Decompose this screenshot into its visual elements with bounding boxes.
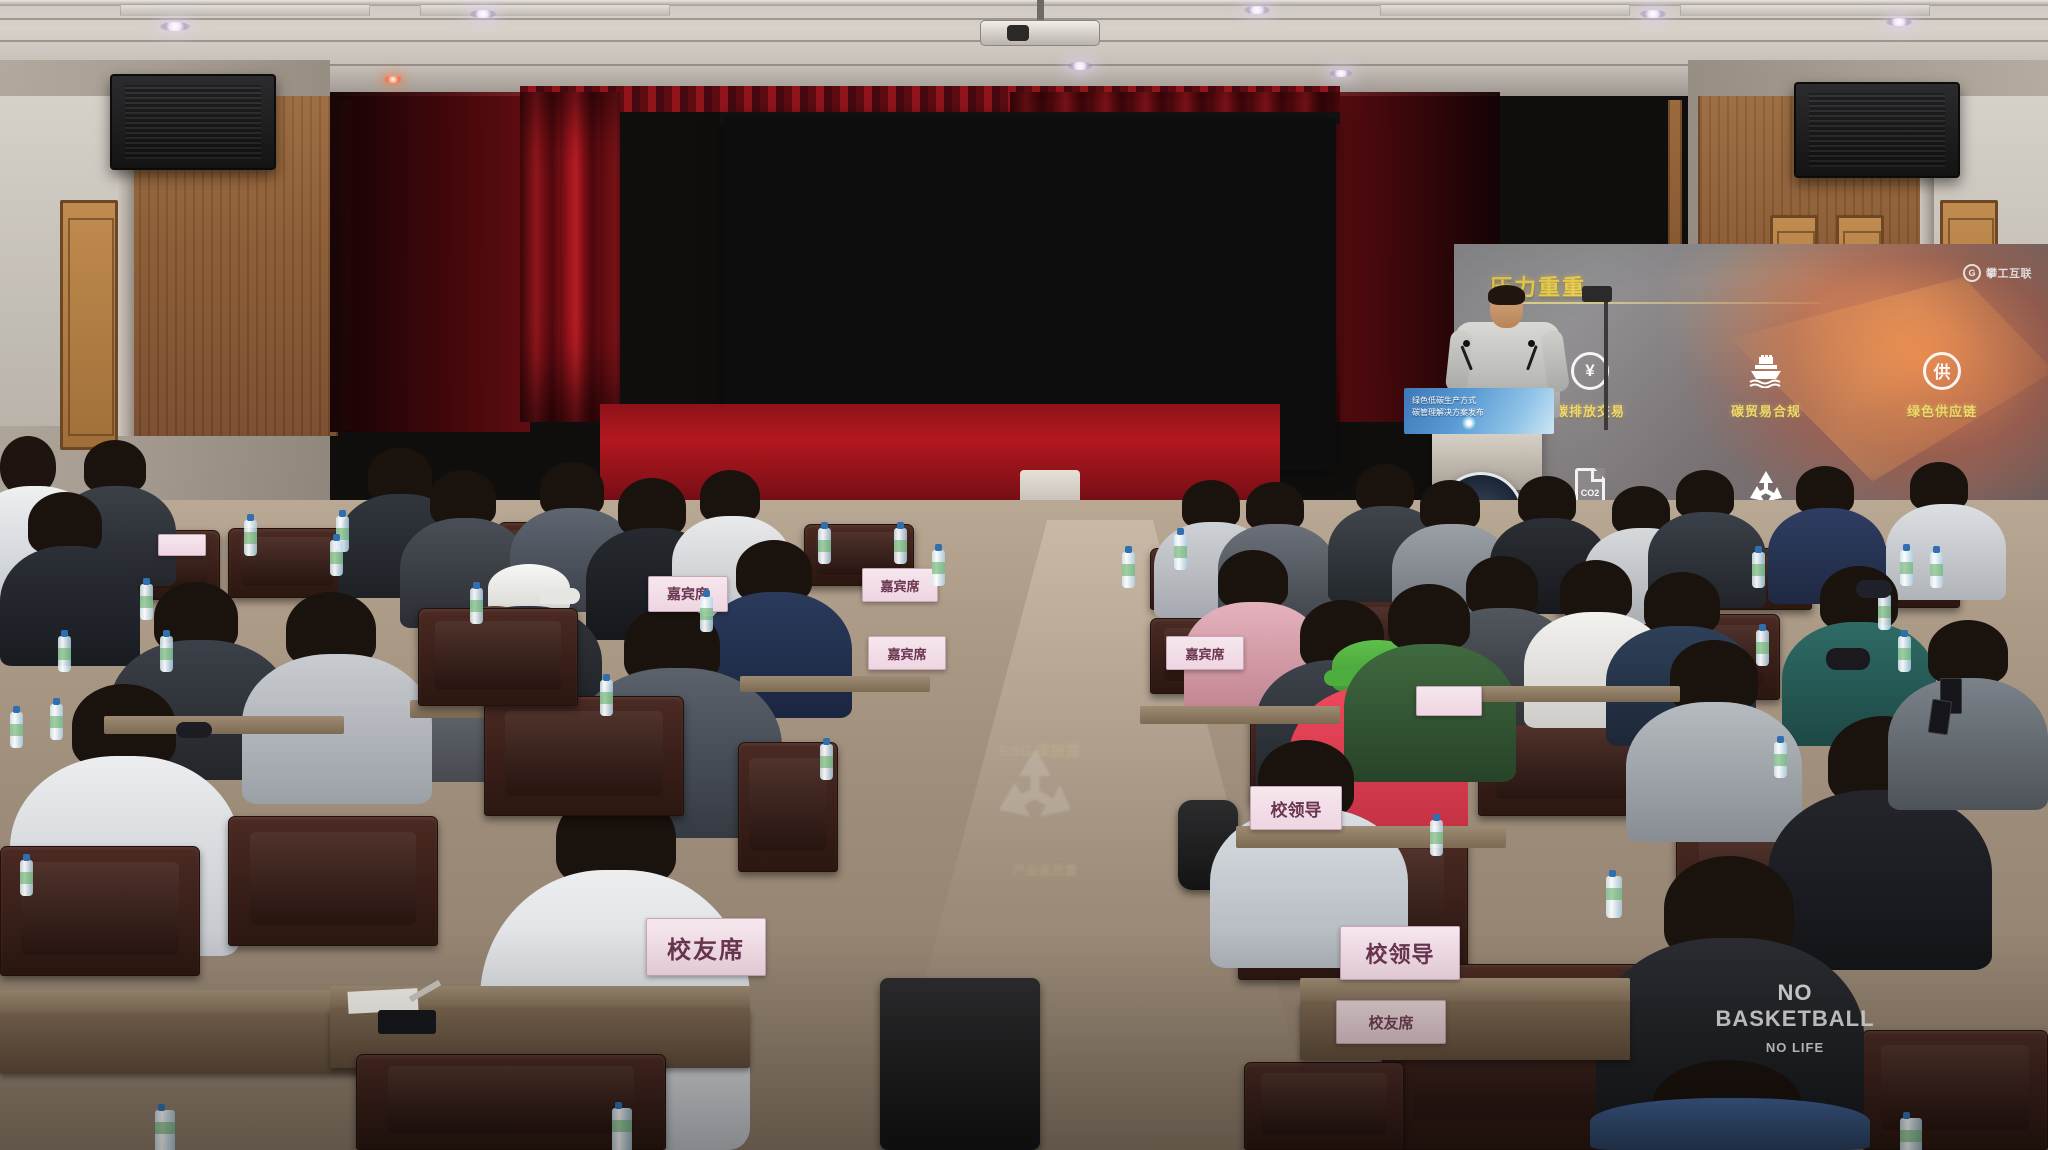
notebook[interactable] (378, 1010, 436, 1034)
slide-item-1: 碳贸易合规 (1682, 330, 1850, 440)
ceiling-slab-2 (420, 4, 670, 16)
water-bottle[interactable] (818, 528, 831, 564)
water-bottle[interactable] (470, 588, 483, 624)
backpack[interactable] (880, 978, 1040, 1150)
chair[interactable] (228, 816, 438, 946)
water-bottle[interactable] (600, 680, 613, 716)
downlight-red (384, 76, 402, 83)
water-bottle[interactable] (612, 1108, 632, 1150)
water-bottle[interactable] (160, 636, 173, 672)
speaker-hair (1488, 285, 1525, 305)
eyeglasses (176, 722, 212, 738)
audience-hair (700, 470, 760, 522)
desk (1460, 686, 1680, 702)
microphone-head-right (1528, 340, 1535, 347)
conference-hall-scene: 压力重重 G 攀工互联 ¥ 碳排放交易 (0, 0, 2048, 1150)
placard: 校友席 (646, 918, 766, 976)
slide-title-underline (1490, 302, 1820, 304)
chair[interactable] (1244, 1062, 1404, 1150)
speaker-monitor (1582, 286, 1612, 302)
water-bottle[interactable] (50, 704, 63, 740)
downlight-1 (160, 22, 190, 31)
audience-hair (1246, 482, 1304, 530)
downlight-4 (1640, 10, 1666, 18)
water-bottle[interactable] (1898, 636, 1911, 672)
downlight-2 (470, 10, 496, 18)
audience-hair (1466, 556, 1538, 616)
water-bottle[interactable] (1430, 820, 1443, 856)
water-bottle[interactable] (700, 596, 713, 632)
ceiling-slab-3 (1380, 4, 1630, 16)
water-bottle[interactable] (1900, 1118, 1922, 1150)
projector-body (980, 20, 1100, 46)
microphone-head-left (1463, 340, 1470, 347)
placard: 嘉宾席 (868, 636, 946, 670)
audience-person (1888, 678, 2048, 810)
floor-reflection-text-2: 产业高质量 (960, 860, 1130, 890)
water-bottle[interactable] (244, 520, 257, 556)
speaker-left (110, 74, 276, 170)
chair[interactable] (484, 696, 684, 816)
brand-name: 攀工互联 (1986, 265, 2032, 281)
desk (1140, 706, 1340, 724)
cargo-ship-svg (1746, 354, 1786, 388)
floor-reflection-text-1: ESG 碳披露 (960, 740, 1120, 770)
slide-item-label-2: 绿色供应链 (1907, 401, 1977, 420)
eyeglasses (1826, 648, 1870, 670)
water-bottle[interactable] (330, 540, 343, 576)
cap-brim (540, 588, 580, 604)
water-bottle[interactable] (1930, 552, 1943, 588)
supply-chain-icon: 供 (1922, 351, 1962, 391)
slide-logo: G 攀工互联 (1963, 264, 2032, 282)
placard (1416, 686, 1482, 716)
downlight-5 (1886, 18, 1912, 26)
projector-mount (980, 0, 1100, 56)
desk (740, 676, 930, 692)
cargo-ship-icon (1746, 351, 1786, 391)
water-bottle[interactable] (1752, 552, 1765, 588)
water-bottle[interactable] (1606, 876, 1622, 918)
audience-hair (1910, 462, 1968, 510)
podium-banner-line1: 绿色低碳生产方式 (1412, 395, 1548, 406)
audience-hair (1928, 620, 2008, 684)
audience-person (1768, 790, 1992, 970)
ceiling-slab-4 (1680, 4, 1930, 16)
ceiling-slab-1 (120, 4, 370, 16)
water-bottle[interactable] (1878, 594, 1891, 630)
projector-lens (1007, 25, 1029, 41)
audience-hair (1388, 584, 1470, 650)
desk (104, 716, 344, 734)
curtain-shadow-left (330, 92, 530, 432)
water-bottle[interactable] (1174, 534, 1187, 570)
water-bottle[interactable] (1774, 742, 1787, 778)
stage-curtain-left (520, 92, 620, 422)
water-bottle[interactable] (894, 528, 907, 564)
water-bottle[interactable] (1122, 552, 1135, 588)
door-left-1[interactable] (60, 200, 118, 450)
placard: 校领导 (1250, 786, 1342, 830)
water-bottle[interactable] (932, 550, 945, 586)
audience-hair (1676, 470, 1734, 518)
placard: 嘉宾席 (1166, 636, 1244, 670)
water-bottle[interactable] (20, 860, 33, 896)
institution-emblem-icon (1462, 416, 1476, 430)
downlight-3 (1244, 6, 1270, 14)
audience-hair (1644, 572, 1720, 634)
placard: 嘉宾席 (648, 576, 728, 612)
water-bottle[interactable] (1756, 630, 1769, 666)
water-bottle[interactable] (140, 584, 153, 620)
brand-mark-icon: G (1963, 264, 1981, 282)
speaker-right (1794, 82, 1960, 178)
audience-hair (1218, 550, 1288, 608)
water-bottle[interactable] (10, 712, 23, 748)
audience-hair (1420, 480, 1480, 530)
water-bottle[interactable] (820, 744, 833, 780)
water-bottle[interactable] (1900, 550, 1913, 586)
audience-hair (84, 440, 146, 492)
slide-item-2: 供 绿色供应链 (1858, 330, 2026, 440)
audience-hair (1560, 560, 1632, 620)
audience-hair (1182, 480, 1240, 528)
audience-person (1590, 1098, 1870, 1150)
audience-hair (1356, 464, 1414, 512)
downlight-6 (1068, 62, 1092, 70)
projector-pole (1037, 0, 1044, 22)
slide-item-label-0: 碳排放交易 (1555, 401, 1625, 420)
placard: 校领导 (1340, 926, 1460, 980)
downlight-7 (1330, 70, 1352, 77)
audience-hair (1518, 476, 1576, 524)
placard: 校友席 (1336, 1000, 1446, 1044)
eyeglasses (1856, 580, 1892, 598)
placard (158, 534, 206, 556)
mic-stand-pole (1604, 300, 1608, 430)
placard: 嘉宾席 (862, 568, 938, 602)
audience-hair (28, 492, 102, 554)
chair[interactable] (418, 608, 578, 706)
water-bottle[interactable] (58, 636, 71, 672)
water-bottle[interactable] (155, 1110, 175, 1150)
podium-banner: 绿色低碳生产方式 碳管理解决方案发布 (1404, 388, 1554, 434)
slide-item-label-1: 碳贸易合规 (1731, 401, 1801, 420)
podium-banner-line2: 碳管理解决方案发布 (1412, 407, 1548, 418)
supply-chain-glyph: 供 (1923, 352, 1961, 390)
audience-hair (1796, 466, 1854, 514)
